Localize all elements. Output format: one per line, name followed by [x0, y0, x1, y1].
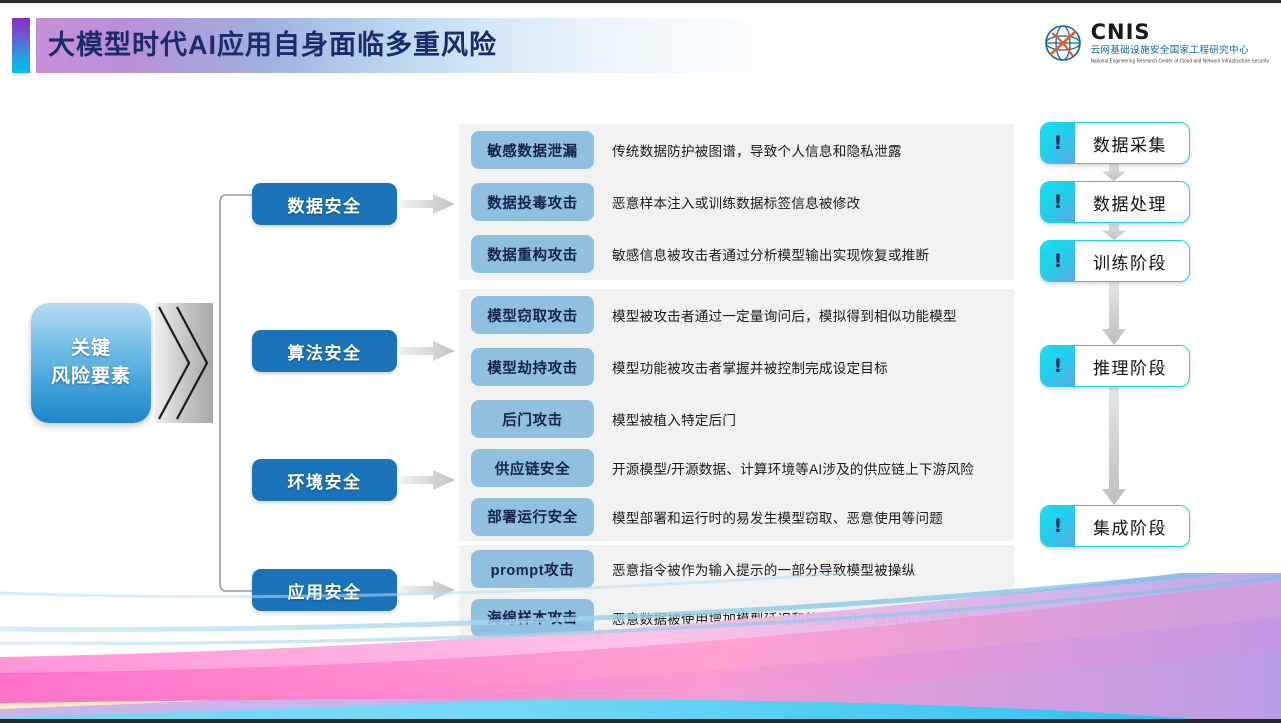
risk-item-pill[interactable]: 后门攻击 [471, 400, 594, 438]
stage-label: 推理阶段 [1075, 354, 1189, 379]
category-pill[interactable]: 数据安全 [252, 183, 397, 225]
risk-group-panel: 供应链安全开源模型/开源数据、计算环境等AI涉及的供应链上下游风险部署运行安全模… [459, 444, 1014, 541]
category-label: 数据安全 [288, 192, 362, 217]
risk-item-description: 敏感信息被攻击者通过分析模型输出实现恢复或推断 [612, 244, 929, 264]
risk-item-label: 模型劫持攻击 [487, 357, 578, 378]
alert-icon: ! [1041, 346, 1075, 386]
risk-item-label: 敏感数据泄漏 [487, 140, 578, 161]
stage-box[interactable]: !推理阶段 [1040, 345, 1190, 387]
risk-item-row: 模型窃取攻击模型被攻击者通过一定量询问后，模拟得到相似功能模型 [471, 296, 957, 334]
arrow-right-icon [400, 193, 455, 215]
footer-rule [0, 719, 1281, 723]
alert-icon: ! [1041, 241, 1075, 281]
risk-item-description: 模型被植入特定后门 [612, 409, 736, 429]
risk-item-pill[interactable]: 敏感数据泄漏 [471, 131, 594, 169]
accent-bar [12, 18, 30, 73]
risk-item-row: 数据投毒攻击恶意样本注入或训练数据标签信息被修改 [471, 183, 860, 221]
bracket-connector [212, 193, 260, 593]
logo-text-block: CNIS 云网基础设施安全国家工程研究中心 National Engineeri… [1091, 22, 1269, 63]
arrow-down-icon [1102, 162, 1126, 181]
key-risk-box: 关键 风险要素 [31, 303, 151, 423]
key-risk-line2: 风险要素 [51, 363, 131, 391]
risk-item-pill[interactable]: 部署运行安全 [471, 498, 594, 536]
risk-item-description: 模型部署和运行时的易发生模型窃取、恶意使用等问题 [612, 507, 943, 527]
alert-icon: ! [1041, 182, 1075, 222]
key-risk-line1: 关键 [71, 335, 111, 363]
logo-brand: CNIS [1091, 22, 1269, 43]
risk-item-description: 传统数据防护被图谱，导致个人信息和隐私泄露 [612, 140, 902, 160]
logo-name-cn: 云网基础设施安全国家工程研究中心 [1091, 45, 1269, 58]
risk-item-row: 部署运行安全模型部署和运行时的易发生模型窃取、恶意使用等问题 [471, 498, 943, 536]
arrow-right-icon [400, 469, 455, 491]
stage-label: 数据处理 [1075, 190, 1189, 215]
risk-group-panel: 敏感数据泄漏传统数据防护被图谱，导致个人信息和隐私泄露数据投毒攻击恶意样本注入或… [459, 124, 1014, 280]
stage-box[interactable]: !集成阶段 [1040, 505, 1190, 547]
risk-item-pill[interactable]: 数据重构攻击 [471, 235, 594, 273]
stage-box[interactable]: !数据处理 [1040, 181, 1190, 223]
risk-group-panel: 模型窃取攻击模型被攻击者通过一定量询问后，模拟得到相似功能模型模型劫持攻击模型功… [459, 289, 1014, 445]
risk-item-label: 后门攻击 [502, 409, 562, 430]
risk-item-pill[interactable]: 供应链安全 [471, 449, 594, 487]
risk-item-description: 恶意样本注入或训练数据标签信息被修改 [612, 192, 860, 212]
risk-item-label: 供应链安全 [495, 458, 571, 479]
stage-label: 训练阶段 [1075, 249, 1189, 274]
cnis-logo: CNIS 云网基础设施安全国家工程研究中心 National Engineeri… [1043, 22, 1269, 63]
category-pill[interactable]: 环境安全 [252, 459, 397, 501]
decorative-waves [0, 573, 1281, 723]
risk-item-row: 后门攻击模型被植入特定后门 [471, 400, 736, 438]
slide-canvas: 大模型时代AI应用自身面临多重风险 CNIS 云网基础设施安全国家工程研究中心 … [0, 0, 1281, 723]
alert-icon: ! [1041, 123, 1075, 163]
globe-icon [1043, 23, 1083, 63]
risk-item-row: 供应链安全开源模型/开源数据、计算环境等AI涉及的供应链上下游风险 [471, 449, 974, 487]
stage-label: 集成阶段 [1075, 514, 1189, 539]
risk-item-pill[interactable]: 模型劫持攻击 [471, 348, 594, 386]
risk-item-row: 模型劫持攻击模型功能被攻击者掌握并被控制完成设定目标 [471, 348, 888, 386]
risk-item-label: 数据投毒攻击 [487, 192, 578, 213]
stage-box[interactable]: !训练阶段 [1040, 240, 1190, 282]
risk-item-row: 数据重构攻击敏感信息被攻击者通过分析模型输出实现恢复或推断 [471, 235, 929, 273]
risk-item-description: 模型被攻击者通过一定量询问后，模拟得到相似功能模型 [612, 305, 957, 325]
stage-box[interactable]: !数据采集 [1040, 122, 1190, 164]
chevron-right-icon [155, 303, 213, 423]
top-rule [0, 0, 1281, 3]
risk-item-pill[interactable]: 数据投毒攻击 [471, 183, 594, 221]
arrow-down-icon [1102, 385, 1126, 505]
stage-label: 数据采集 [1075, 131, 1189, 156]
risk-item-pill[interactable]: 模型窃取攻击 [471, 296, 594, 334]
arrow-right-icon [400, 340, 455, 362]
risk-item-label: 部署运行安全 [487, 506, 578, 527]
risk-item-label: 模型窃取攻击 [487, 305, 578, 326]
category-pill[interactable]: 算法安全 [252, 330, 397, 372]
category-label: 环境安全 [288, 468, 362, 493]
risk-item-label: 数据重构攻击 [487, 244, 578, 265]
page-title: 大模型时代AI应用自身面临多重风险 [48, 18, 497, 73]
risk-item-row: 敏感数据泄漏传统数据防护被图谱，导致个人信息和隐私泄露 [471, 131, 902, 169]
logo-name-en: National Engineering Research Center of … [1091, 58, 1269, 64]
risk-item-description: 开源模型/开源数据、计算环境等AI涉及的供应链上下游风险 [612, 458, 974, 478]
risk-item-description: 模型功能被攻击者掌握并被控制完成设定目标 [612, 357, 888, 377]
category-label: 算法安全 [288, 339, 362, 364]
arrow-down-icon [1102, 280, 1126, 345]
alert-icon: ! [1041, 506, 1075, 546]
arrow-down-icon [1102, 221, 1126, 240]
